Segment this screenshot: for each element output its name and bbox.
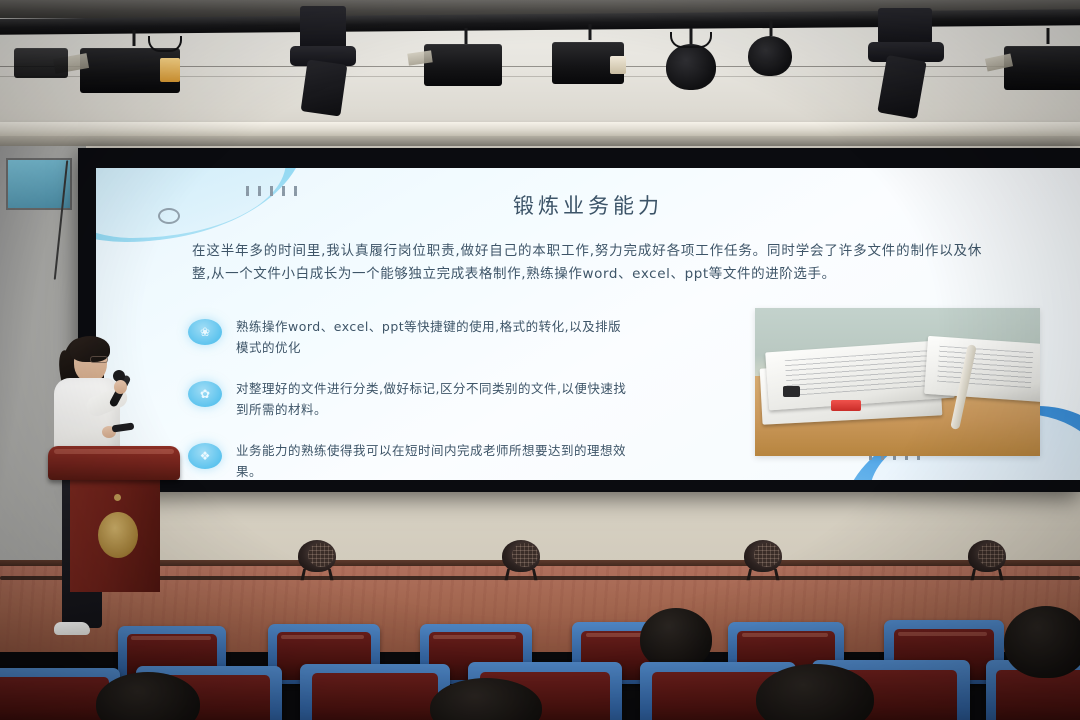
floor-par-light-3: [742, 540, 784, 580]
stage-light-fresnel-3: [1000, 28, 1080, 100]
par-stand-legs: [300, 569, 333, 581]
auditorium-scene: 锻炼业务能力 在这半年多的时间里,我认真履行岗位职责,做好自己的本职工作,努力完…: [0, 0, 1080, 720]
floor-par-light-1: [296, 540, 338, 580]
slide-bullet-item: ✿ 对整理好的文件进行分类,做好标记,区分不同类别的文件,以便快速找到所需的材料…: [188, 378, 628, 420]
par-stand-legs: [746, 569, 779, 581]
stage-light-parcan-1: [660, 28, 722, 100]
movinghead-head: [877, 55, 926, 119]
lamp-cable: [148, 36, 182, 52]
seat-cushion: [0, 677, 109, 720]
seat-highlight: [898, 632, 987, 636]
lamp-lens-icon: [610, 56, 626, 74]
glasses-icon: [90, 356, 108, 363]
bullet-icon-glyph: ✿: [200, 388, 210, 400]
slide-bullet-item: ❖ 业务能力的熟练使得我可以在短时间内完成老师所想要达到的理想效果。: [188, 440, 628, 480]
seat-highlight: [742, 633, 828, 637]
floor-par-light-4: [966, 540, 1008, 580]
podium-top-surface: [48, 446, 180, 480]
presenter-hand-mic: [114, 380, 127, 394]
slide-bullet-text: 对整理好的文件进行分类,做好标记,区分不同类别的文件,以便快速找到所需的材料。: [236, 378, 628, 420]
lamp-body: [1004, 46, 1080, 90]
audience-head: [640, 608, 712, 670]
slide-bullet-text: 熟练操作word、excel、ppt等快捷键的使用,格式的转化,以及排版模式的优…: [236, 316, 628, 358]
bullet-icon-glyph: ❀: [200, 326, 210, 338]
movinghead-base: [878, 8, 932, 44]
par-lens-grill-icon: [978, 543, 1004, 567]
slide-paragraph: 在这半年多的时间里,我认真履行岗位职责,做好自己的本职工作,努力完成好各项工作任…: [192, 240, 982, 286]
slide-bullet-text: 业务能力的熟练使得我可以在短时间内完成老师所想要达到的理想效果。: [236, 440, 628, 480]
stage-light-small-left: [14, 40, 74, 100]
stage-light-profile-1: [548, 24, 632, 96]
auditorium-seat: [300, 664, 450, 720]
lamp-cable: [670, 32, 712, 48]
podium-stud-icon: [114, 494, 121, 501]
red-binder-clip-icon: [831, 400, 861, 411]
podium: [48, 446, 180, 592]
lamp-lens-icon: [160, 58, 180, 82]
audience-head: [1004, 606, 1080, 678]
par-lens-grill-icon: [512, 543, 538, 567]
seat-highlight: [131, 636, 211, 640]
document-gear-icon: ❀: [188, 319, 222, 345]
presentation-clicker-icon: [112, 423, 135, 433]
slide-photo-documents: [755, 308, 1040, 456]
ceiling: [0, 0, 1080, 150]
stage-light-fresnel-1: [74, 30, 194, 110]
seat-highlight: [433, 635, 516, 639]
par-stand-legs: [970, 569, 1003, 581]
stage-light-fresnel-2: [420, 28, 512, 98]
lamp-yoke-icon: [770, 20, 773, 36]
par-lens-grill-icon: [308, 543, 334, 567]
dark-clip-icon: [783, 386, 800, 397]
seat-cushion: [312, 673, 438, 720]
checklist-icon: ❖: [188, 443, 222, 469]
paper-text-lines: [784, 350, 931, 396]
par-stand-legs: [504, 569, 537, 581]
par-head: [748, 36, 792, 76]
stage-light-movinghead-2: [866, 8, 946, 128]
lamp-body: [424, 44, 502, 86]
stage-light-movinghead-1: [286, 6, 360, 126]
lamp-body: [14, 48, 68, 78]
presentation-slide[interactable]: 锻炼业务能力 在这半年多的时间里,我认真履行岗位职责,做好自己的本职工作,努力完…: [96, 168, 1080, 480]
seat-highlight: [281, 635, 364, 639]
floor-par-light-2: [500, 540, 542, 580]
lamp-yoke-icon: [1047, 28, 1050, 44]
par-lens-grill-icon: [754, 543, 780, 567]
folder-sort-icon: ✿: [188, 381, 222, 407]
lamp-yoke-icon: [133, 30, 136, 46]
podium-emblem-icon: [98, 512, 138, 558]
bullet-icon-glyph: ❖: [200, 450, 211, 462]
podium-top-highlight: [54, 449, 174, 454]
paper-stack-right: [924, 336, 1040, 402]
stage-light-parcan-2: [744, 20, 798, 80]
ceiling-lip-shadow: [0, 136, 1080, 146]
lamp-yoke-icon: [589, 24, 592, 40]
paper-text-lines: [937, 346, 1033, 388]
slide-bullet-list: ❀ 熟练操作word、excel、ppt等快捷键的使用,格式的转化,以及排版模式…: [188, 316, 628, 480]
slide-title: 锻炼业务能力: [96, 190, 1080, 220]
slide-bullet-item: ❀ 熟练操作word、excel、ppt等快捷键的使用,格式的转化,以及排版模式…: [188, 316, 628, 358]
movinghead-head: [301, 59, 348, 116]
par-head: [666, 44, 716, 90]
movinghead-base: [300, 6, 346, 50]
audience-seating: [0, 612, 1080, 720]
lamp-yoke-icon: [465, 28, 468, 44]
